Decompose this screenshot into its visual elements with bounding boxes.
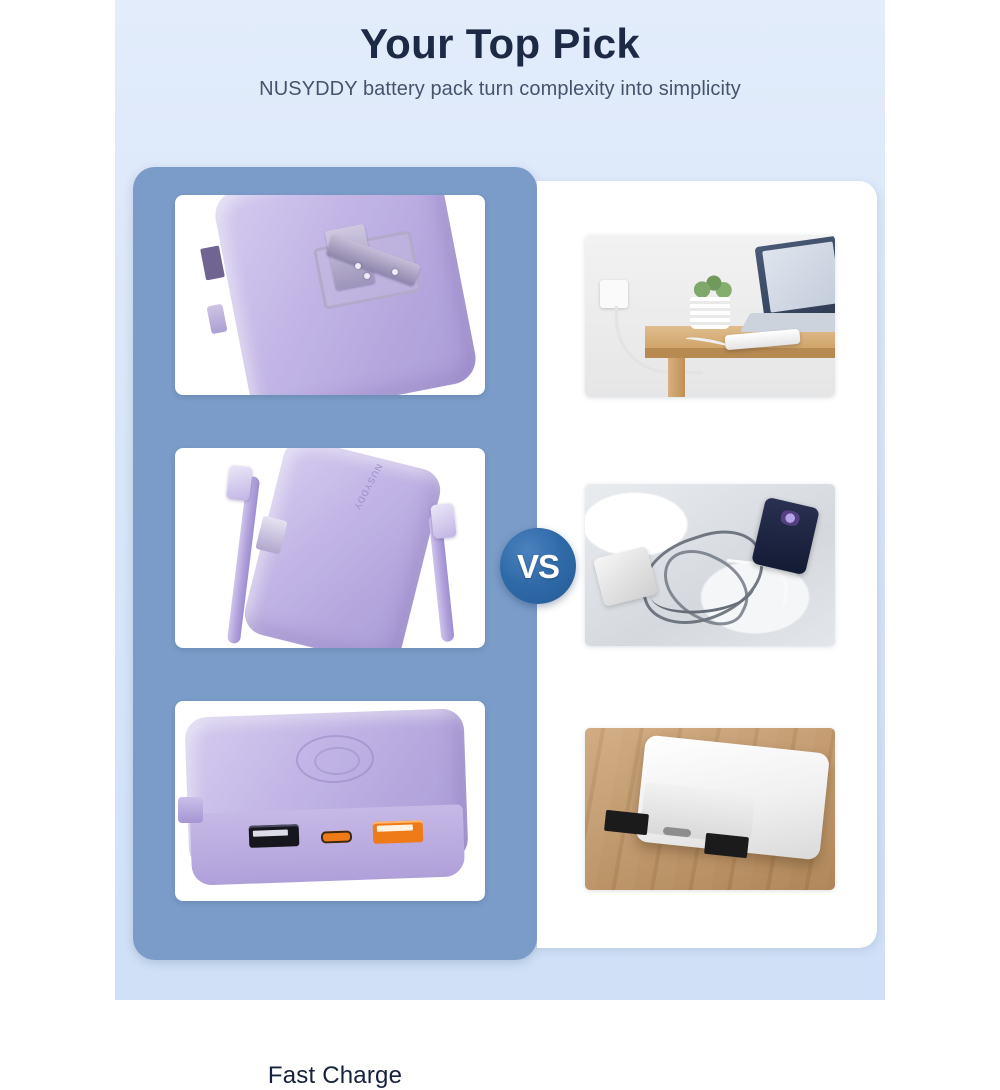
- wall-outlet-icon: [600, 280, 628, 308]
- comparison-section: Built-in Wall Plug NUSYDDY Built-in Cabl…: [133, 167, 877, 960]
- feature-caption-fast-charge: Fast Charge: [133, 1062, 537, 1090]
- comparison-photo-tangled-cables-bed: [585, 484, 835, 646]
- page-subtitle: NUSYDDY battery pack turn complexity int…: [115, 76, 885, 102]
- feature-photo-wall-plug: [175, 195, 485, 395]
- usb-c-port-orange-icon: [320, 830, 351, 843]
- scene-tangled-cables: [585, 484, 835, 646]
- prong-rivet-icon: [392, 269, 398, 275]
- vs-badge-label: VS: [517, 550, 559, 583]
- scene-desk-outlet: [585, 235, 835, 397]
- infographic-canvas: Your Top Pick NUSYDDY battery pack turn …: [0, 0, 1000, 1000]
- left-product-panel: Built-in Wall Plug NUSYDDY Built-in Cabl…: [133, 167, 537, 960]
- scene-wall-plug: [175, 195, 485, 395]
- vs-badge: VS: [500, 528, 576, 604]
- plant-pot: [690, 297, 730, 329]
- usb-a-port-orange-icon: [373, 820, 423, 844]
- feature-photo-fast-charge: [175, 701, 485, 901]
- cable-connector-tip-left-icon: [226, 465, 253, 502]
- desk-leg: [668, 358, 686, 397]
- header: Your Top Pick NUSYDDY battery pack turn …: [115, 18, 885, 118]
- side-cable-slot: [178, 797, 203, 823]
- side-cable-slot: [207, 304, 228, 334]
- scene-fast-charge: [175, 701, 485, 901]
- port-face: [189, 804, 464, 885]
- plant-leaves: [688, 274, 736, 300]
- usb-a-port-icon: [704, 833, 748, 858]
- feature-photo-built-in-cable: NUSYDDY: [175, 448, 485, 648]
- laptop-screen: [762, 242, 835, 314]
- desk-edge: [645, 348, 835, 358]
- page-title: Your Top Pick: [115, 18, 885, 70]
- scene-built-in-cable: NUSYDDY: [175, 448, 485, 648]
- comparison-photo-plain-power-bank-wood: [585, 728, 835, 890]
- brand-engraving: NUSYDDY: [352, 462, 385, 512]
- comparison-photo-wall-outlet-desk: [585, 235, 835, 397]
- cable-connector-tip-right-icon: [431, 503, 457, 539]
- scene-plain-power-bank: [585, 728, 835, 890]
- usb-a-port-black-icon: [249, 824, 299, 848]
- prong-rivet-icon: [355, 263, 361, 269]
- right-comparison-panel: [537, 181, 877, 948]
- side-port: [200, 246, 224, 281]
